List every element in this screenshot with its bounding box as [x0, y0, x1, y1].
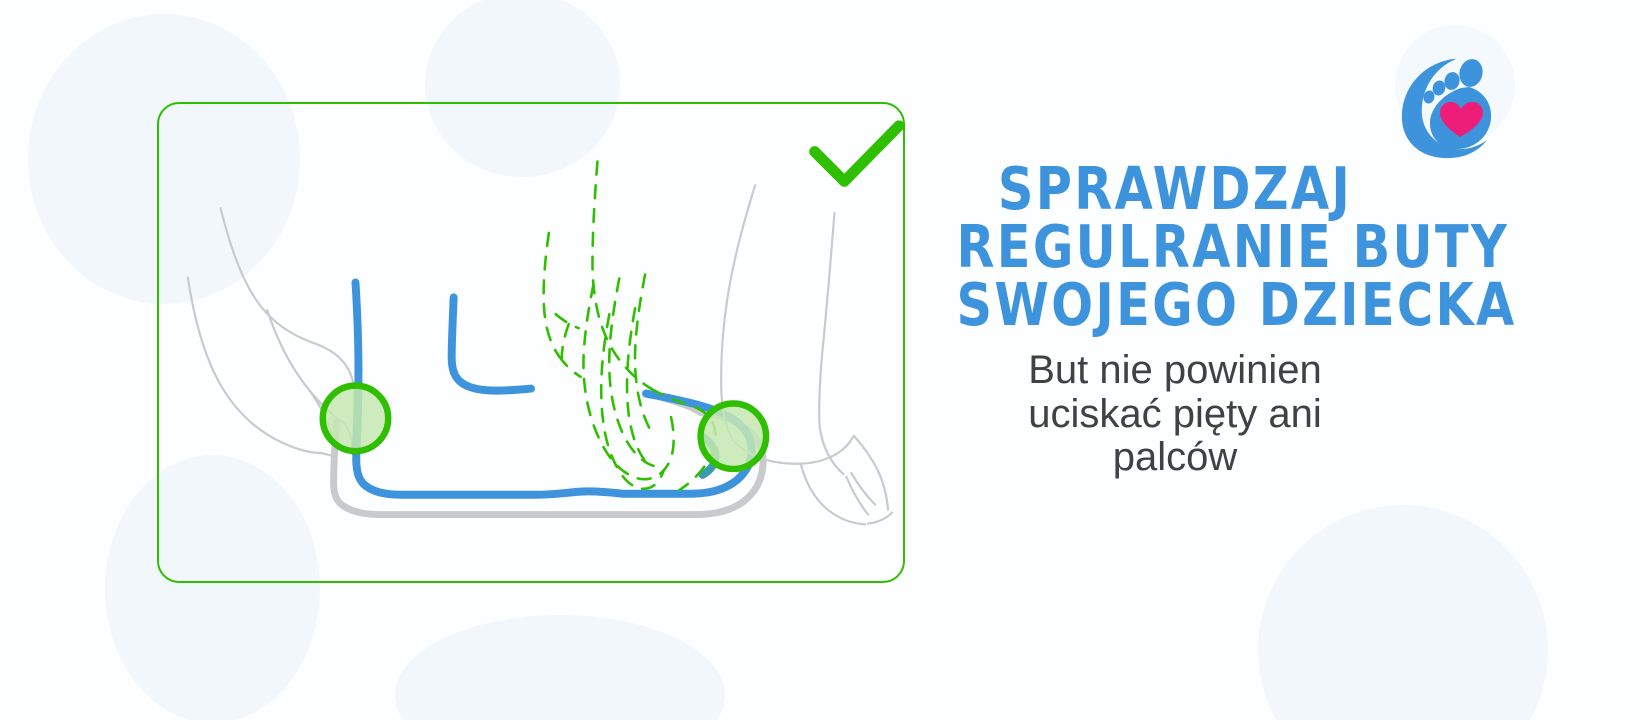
- toe-highlight-circle: [701, 403, 766, 468]
- shoe-outline-blue: [355, 283, 751, 495]
- subtitle-line-3: palców: [940, 436, 1410, 479]
- check-icon: [815, 126, 899, 182]
- shoe-fit-check-illustration: [159, 104, 903, 581]
- headline-line-3: SWOJEGO DZIECKA: [956, 276, 1393, 334]
- heel-highlight-circle: [323, 386, 388, 451]
- headline-line-1: SPRAWDZAJ: [956, 160, 1393, 218]
- shoe-highlight-teal: [355, 392, 715, 475]
- page-title: SPRAWDZAJ REGULRANIE BUTY SWOJEGO DZIECK…: [956, 160, 1393, 333]
- illustration-card: [157, 102, 905, 583]
- subtitle-line-1: But nie powinien: [940, 349, 1410, 392]
- logo-toe-1: [1456, 57, 1485, 90]
- toes-dashed-green: [544, 162, 716, 490]
- baby-foot-heart-icon: [1391, 53, 1501, 163]
- page-subtitle: But nie powinien uciskać pięty ani palcó…: [940, 349, 1410, 479]
- baby-foot-heart-logo: [1391, 53, 1501, 163]
- subtitle-line-2: uciskać pięty ani: [940, 393, 1410, 436]
- text-column: SPRAWDZAJ REGULRANIE BUTY SWOJEGO DZIECK…: [940, 160, 1410, 479]
- background-blob: [395, 615, 725, 720]
- logo-toe-2: [1443, 70, 1462, 91]
- infographic-canvas: SPRAWDZAJ REGULRANIE BUTY SWOJEGO DZIECK…: [0, 0, 1640, 720]
- headline-line-2: REGULRANIE BUTY: [956, 218, 1393, 276]
- background-blob: [1258, 505, 1548, 720]
